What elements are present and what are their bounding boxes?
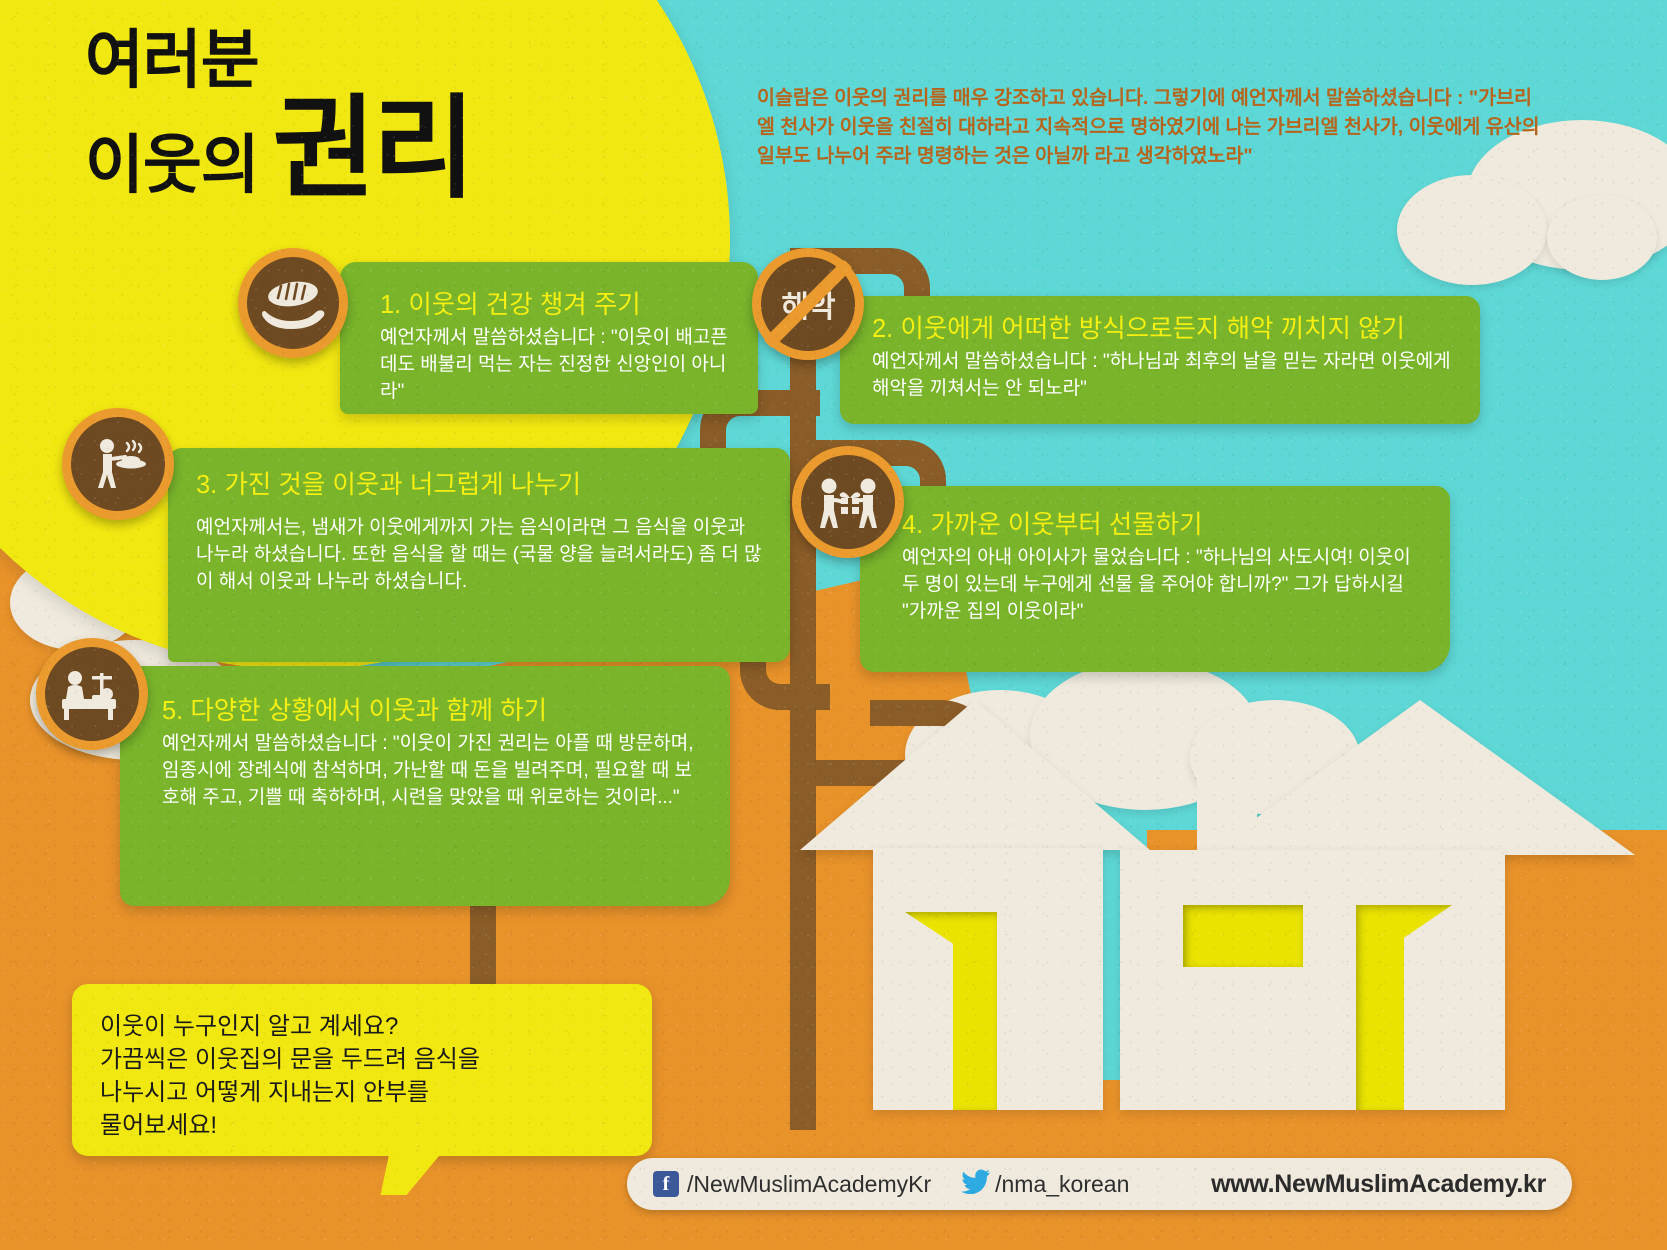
page-title: 여러분 이웃의 권리	[85, 28, 473, 205]
callout-bubble: 이웃이 누구인지 알고 계세요? 가끔씩은 이웃집의 문을 두드려 음식을 나누…	[72, 984, 652, 1156]
card-3-heading: 3. 가진 것을 이웃과 너그럽게 나누기	[196, 470, 766, 501]
cloud-top-right-2	[1397, 175, 1547, 285]
house-right-roof	[1205, 700, 1635, 855]
card-2-body: 예언자께서 말씀하셨습니다 : "하나님과 최후의 날을 믿는 자라면 이웃에게…	[872, 349, 1460, 403]
website-url[interactable]: www.NewMuslimAcademy.kr	[1211, 1170, 1546, 1199]
title-line-2-small: 이웃의	[85, 133, 259, 197]
house-right-door-panel	[1404, 905, 1452, 1110]
card-5: 5. 다양한 상황에서 이웃과 함께 하기 예언자께서 말씀하셨습니다 : "이…	[120, 666, 730, 906]
card-5-body: 예언자께서 말씀하셨습니다 : "이웃이 가진 권리는 아플 때 방문하며, 임…	[162, 731, 708, 812]
card-4: 4. 가까운 이웃부터 선물하기 예언자의 아내 아이사가 물었습니다 : "하…	[860, 486, 1450, 672]
bread-in-hand-icon	[238, 248, 348, 358]
footer-bar: f /NewMuslimAcademyKr /nma_korean www.Ne…	[627, 1158, 1572, 1210]
card-4-heading: 4. 가까운 이웃부터 선물하기	[902, 510, 1430, 541]
house-right-window	[1183, 905, 1303, 967]
no-harm-icon: 해악	[752, 248, 864, 360]
facebook-icon[interactable]: f	[653, 1171, 679, 1197]
infographic-canvas: 여러분 이웃의 권리 이슬람은 이웃의 권리를 매우 강조하고 있습니다. 그렇…	[0, 0, 1667, 1250]
facebook-handle[interactable]: /NewMuslimAcademyKr	[687, 1171, 931, 1198]
prohibition-slash-icon	[763, 259, 853, 349]
twitter-icon[interactable]	[961, 1169, 991, 1199]
card-3-body: 예언자께서는, 냄새가 이웃에게까지 가는 음식이라면 그 음식을 이웃과 나누…	[196, 515, 766, 596]
intro-paragraph: 이슬람은 이웃의 권리를 매우 강조하고 있습니다. 그렇기에 예언자께서 말씀…	[757, 84, 1547, 171]
title-line-2-big: 권리	[273, 93, 473, 205]
gift-giving-icon	[792, 446, 904, 558]
card-1: 1. 이웃의 건강 챙겨 주기 예언자께서 말씀하셨습니다 : "이웃이 배고픈…	[340, 262, 758, 414]
card-2: 2. 이웃에게 어떠한 방식으로든지 해악 끼치지 않기 예언자께서 말씀하셨습…	[840, 296, 1480, 424]
visiting-sick-icon	[36, 638, 148, 750]
callout-bubble-tail	[381, 1153, 442, 1195]
title-line-2: 이웃의 권리	[85, 93, 473, 205]
card-5-heading: 5. 다양한 상황에서 이웃과 함께 하기	[162, 696, 708, 727]
twitter-handle[interactable]: /nma_korean	[995, 1171, 1129, 1198]
card-3: 3. 가진 것을 이웃과 너그럽게 나누기 예언자께서는, 냄새가 이웃에게까지…	[168, 448, 790, 662]
branch-to-callout	[470, 930, 496, 990]
card-1-body: 예언자께서 말씀하셨습니다 : "이웃이 배고픈데도 배불리 먹는 자는 진정한…	[380, 325, 740, 406]
house-left-roof	[800, 700, 1150, 850]
serving-food-icon	[62, 408, 174, 520]
cloud-top-right-3	[1547, 195, 1657, 280]
card-4-body: 예언자의 아내 아이사가 물었습니다 : "하나님의 사도시여! 이웃이 두 명…	[902, 545, 1430, 626]
card-1-heading: 1. 이웃의 건강 챙겨 주기	[380, 290, 740, 321]
house-right-chimney	[1197, 775, 1257, 861]
house-left-door-panel	[905, 912, 953, 1110]
card-2-heading: 2. 이웃에게 어떠한 방식으로든지 해악 끼치지 않기	[872, 314, 1460, 345]
title-line-1: 여러분	[85, 28, 473, 93]
callout-text: 이웃이 누구인지 알고 계세요? 가끔씩은 이웃집의 문을 두드려 음식을 나누…	[100, 1010, 624, 1142]
